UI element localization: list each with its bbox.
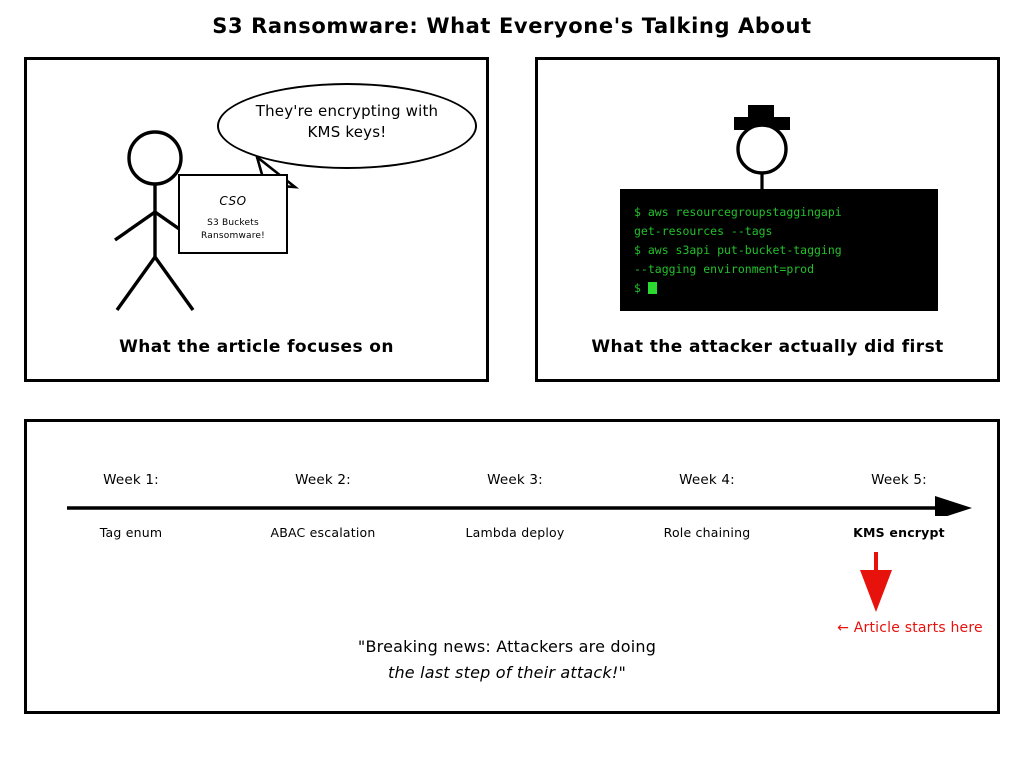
timeline-axis [67, 492, 972, 516]
attacker-head [738, 125, 786, 173]
timeline-week-label-3: Week 3: [440, 472, 590, 488]
breaking-news-line-2: the last step of their attack!" [257, 660, 757, 686]
speech-bubble-text: They're encrypting with KMS keys! [217, 101, 477, 144]
red-arrow-head [860, 570, 892, 612]
timeline-week-label-2: Week 2: [248, 472, 398, 488]
timeline-arrow-drawing [67, 492, 972, 516]
stick-figure-left-leg [117, 257, 155, 310]
stick-figure-right-leg [155, 257, 193, 310]
timeline-event-3: Lambda deploy [430, 525, 600, 540]
timeline-event-5: KMS encrypt [814, 525, 984, 540]
article-starts-here-annotation: ← Article starts here [820, 620, 1000, 636]
stick-figure-head [129, 132, 181, 184]
attacker-drawing [718, 103, 808, 203]
red-arrow-drawing [856, 552, 896, 614]
article-headline: S3 Buckets Ransomware! [180, 217, 286, 243]
panel-article-focus: They're encrypting with KMS keys! CSO S3… [24, 57, 489, 382]
black-hat-crown-icon [748, 105, 774, 119]
terminal-line: $ aws resourcegroupstaggingapi [634, 203, 924, 222]
panel-attack-timeline: Week 1: Week 2: Week 3: Week 4: Week 5: … [24, 419, 1000, 714]
attacker-figure [718, 103, 808, 203]
panel-left-caption: What the article focuses on [27, 337, 486, 357]
breaking-news-line-1: "Breaking news: Attackers are doing [257, 634, 757, 660]
terminal-cursor [648, 282, 657, 294]
timeline-event-1: Tag enum [46, 525, 216, 540]
terminal-line: get-resources --tags [634, 222, 924, 241]
article-clipping-box: CSO S3 Buckets Ransomware! [178, 174, 288, 254]
speech-bubble-line-1: They're encrypting with [217, 101, 477, 122]
terminal-prompt-line: $ [634, 279, 924, 298]
article-headline-line-1: S3 Buckets [180, 217, 286, 230]
speech-bubble-line-2: KMS keys! [217, 122, 477, 143]
red-down-arrow-icon [856, 552, 896, 614]
terminal-line: $ aws s3api put-bucket-tagging [634, 241, 924, 260]
panel-attacker-reality: $ aws resourcegroupstaggingapi get-resou… [535, 57, 1000, 382]
terminal-prompt: $ [634, 281, 648, 295]
timeline-event-4: Role chaining [622, 525, 792, 540]
stick-figure-left-arm [115, 212, 155, 240]
terminal-window[interactable]: $ aws resourcegroupstaggingapi get-resou… [620, 189, 938, 311]
breaking-news-quote: "Breaking news: Attackers are doing the … [257, 634, 757, 686]
timeline-week-label-4: Week 4: [632, 472, 782, 488]
timeline-event-2: ABAC escalation [238, 525, 408, 540]
article-source-label: CSO [180, 194, 286, 208]
timeline-week-label-5: Week 5: [824, 472, 974, 488]
timeline-arrowhead-icon [935, 496, 972, 516]
page-title: S3 Ransomware: What Everyone's Talking A… [0, 14, 1024, 38]
terminal-line: --tagging environment=prod [634, 260, 924, 279]
panel-right-caption: What the attacker actually did first [538, 337, 997, 357]
article-headline-line-2: Ransomware! [180, 230, 286, 243]
timeline-week-label-1: Week 1: [56, 472, 206, 488]
